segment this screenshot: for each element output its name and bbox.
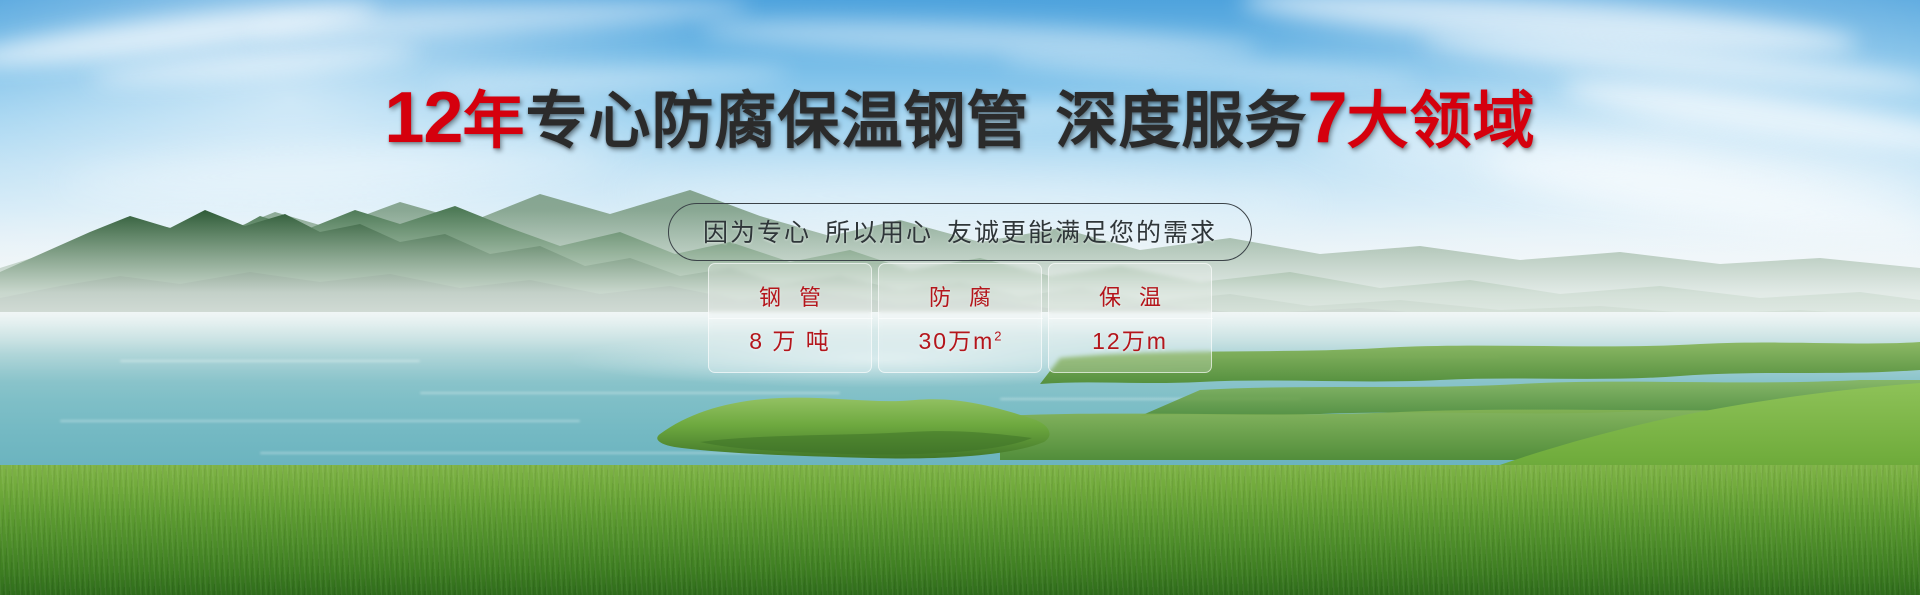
subtitle-part-3: 友诚更能满足您的需求 [947,219,1217,247]
stat-card-title: 防 腐 [923,280,997,312]
stat-card-insulation[interactable]: 保 温 12万m [1048,263,1212,373]
stat-card-value: 30万m2 [919,322,1002,356]
stat-card-value-text: 12万m [1092,328,1168,354]
headline-fields-number: 7 [1308,78,1347,158]
stat-card-title: 保 温 [1093,280,1167,312]
hero-banner: 12年专心防腐保温钢管深度服务7大领域 因为专心所以用心友诚更能满足您的需求 钢… [0,0,1920,595]
stat-card-inner: 保 温 12万m [1049,264,1211,372]
headline-service-text: 深度服务 [1056,87,1308,156]
stat-card-value-text: 30万m [919,328,995,354]
card-divider [1049,318,1213,319]
card-divider [709,318,873,319]
headline-mid-text: 专心防腐保温钢管 [526,87,1030,156]
lake-island [640,386,1060,466]
grass-texture [0,465,1920,595]
water-ripple [60,420,580,422]
stat-card-title: 钢 管 [753,280,827,312]
headline-years-number: 12 [384,78,462,158]
water-ripple [120,360,420,362]
headline-fields-unit: 大领域 [1347,87,1536,156]
stat-cards: 钢 管 8 万 吨 防 腐 30万m2 保 温 12万m [708,263,1212,373]
stat-card-inner: 钢 管 8 万 吨 [709,264,871,372]
page-title: 12年专心防腐保温钢管深度服务7大领域 [0,82,1920,154]
subtitle-part-2: 所以用心 [825,219,933,247]
stat-card-value: 12万m [1092,322,1168,356]
cloud-wisp [700,14,1261,64]
subtitle-pill: 因为专心所以用心友诚更能满足您的需求 [668,203,1252,261]
subtitle-part-1: 因为专心 [703,219,811,247]
stat-card-steel-pipe[interactable]: 钢 管 8 万 吨 [708,263,872,373]
stat-card-anticorrosion[interactable]: 防 腐 30万m2 [878,263,1042,373]
headline-years-unit: 年 [462,87,525,156]
stat-card-inner: 防 腐 30万m2 [879,264,1041,372]
stat-card-value: 8 万 吨 [749,322,831,356]
stat-card-value-text: 8 万 吨 [749,328,831,354]
card-divider [879,318,1043,319]
stat-card-value-superscript: 2 [994,328,1001,343]
